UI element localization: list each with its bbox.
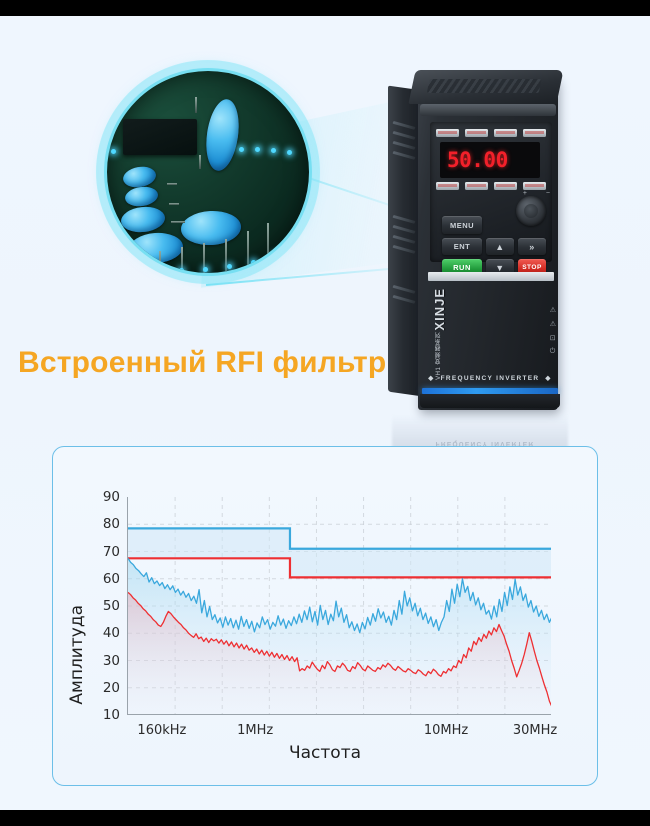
led-dot-icon <box>239 147 244 152</box>
capacitor-icon <box>122 164 158 189</box>
device-side-panel <box>388 86 422 397</box>
y-axis-tick: 70 <box>103 544 120 560</box>
up-button[interactable]: ▲ <box>486 238 514 255</box>
device-footer-label-bar: ◆ FREQUENCY INVERTER ◆ <box>424 370 556 386</box>
vent-slot <box>392 235 415 244</box>
status-led <box>436 182 459 190</box>
vent-slot <box>392 121 415 130</box>
vent-slot <box>392 295 415 304</box>
led-dot-icon <box>131 265 136 270</box>
x-axis-tick: 30MHz <box>513 723 557 738</box>
device-status-icon-group: ⚠ ⚠ ⊡ ⏻ <box>550 306 556 356</box>
y-axis-tick: 90 <box>103 489 120 505</box>
plot-inner <box>128 497 551 714</box>
led-dot-icon <box>271 148 276 153</box>
frequency-inverter-device: 50.00 + − MENU ENT ▲ <box>388 66 570 406</box>
capacitor-icon <box>180 209 242 246</box>
led-dot-icon <box>287 150 292 155</box>
led-display: 50.00 <box>440 142 540 178</box>
device-top-trim <box>420 104 556 116</box>
potentiometer-knob[interactable] <box>516 196 546 226</box>
y-axis-tick: 20 <box>103 680 120 696</box>
vent-slot <box>392 245 415 254</box>
top-vent-grille <box>427 79 542 93</box>
led-dot-icon <box>251 260 256 265</box>
page-root: 50.00 + − MENU ENT ▲ <box>0 0 650 826</box>
status-led-row-bottom <box>436 182 546 191</box>
device-top-cover <box>408 70 563 104</box>
arrow-up-icon: ▲ <box>495 242 504 252</box>
capacitor-icon <box>202 97 243 173</box>
emc-line-chart <box>128 497 551 714</box>
component-lead <box>159 251 161 276</box>
hero-section: 50.00 + − MENU ENT ▲ <box>0 16 650 426</box>
status-led <box>465 129 488 137</box>
y-axis-tick: 80 <box>103 516 120 532</box>
capacitor-icon <box>120 205 166 234</box>
pcb-chip-icon <box>123 119 197 155</box>
plot-area: 908070605040302010160kHz1MHz10MHz30MHz <box>127 497 551 715</box>
warning-icon: ⚠ <box>550 320 556 328</box>
warning-icon: ⚠ <box>550 306 556 314</box>
letterbox-bottom <box>0 810 650 826</box>
component-lead <box>167 183 177 185</box>
arrow-right-icon: » <box>529 242 535 252</box>
y-axis-tick: 10 <box>103 707 120 723</box>
led-dot-icon <box>155 267 160 272</box>
alarm-icon: ⊡ <box>550 334 556 342</box>
y-axis-tick: 60 <box>103 571 120 587</box>
diamond-icon: ◆ <box>428 374 434 382</box>
menu-button[interactable]: MENU <box>442 216 482 234</box>
x-axis-tick: 10MHz <box>424 723 468 738</box>
status-led <box>523 182 546 190</box>
led-dot-icon <box>111 149 116 154</box>
capacitor-icon <box>124 185 159 208</box>
component-lead <box>171 221 185 223</box>
y-axis-tick: 40 <box>103 625 120 641</box>
arrow-down-icon: ▼ <box>495 263 504 273</box>
knob-minus-label: − <box>546 190 550 197</box>
x-axis-label: Частота <box>53 743 597 763</box>
status-led-row-top <box>436 129 546 138</box>
led-dot-icon <box>255 147 260 152</box>
component-lead <box>137 259 139 276</box>
status-led <box>523 129 546 137</box>
power-icon: ⏻ <box>550 348 556 356</box>
status-led <box>494 129 517 137</box>
led-dot-icon <box>227 264 232 269</box>
led-dot-icon <box>273 253 278 258</box>
vent-slot <box>392 285 415 294</box>
y-axis-tick: 50 <box>103 598 120 614</box>
brand-logo: XINJE <box>432 288 447 331</box>
letterbox-top <box>0 0 650 16</box>
device-footer-label: FREQUENCY INVERTER <box>441 375 540 382</box>
vent-slot <box>392 215 415 224</box>
vent-slot <box>392 225 415 234</box>
diamond-icon: ◆ <box>545 374 551 382</box>
pcb-magnifier <box>104 68 312 276</box>
y-axis-tick: 30 <box>103 653 120 669</box>
x-axis-tick: 1MHz <box>237 723 273 738</box>
component-lead <box>199 155 201 169</box>
keypad-panel: 50.00 + − MENU ENT ▲ <box>430 122 552 262</box>
page-title: Встроенный RFI фильтр <box>18 346 386 380</box>
component-lead <box>267 223 269 271</box>
y-axis-label: Амплитуда <box>67 605 87 705</box>
led-dot-icon <box>179 268 184 273</box>
status-led <box>465 182 488 190</box>
status-led <box>436 129 459 137</box>
vent-slot <box>392 151 415 160</box>
x-axis-tick: 160kHz <box>137 723 186 738</box>
component-lead <box>169 203 179 205</box>
chart-panel: Амплитуда Частота 908070605040302010160k… <box>52 446 598 786</box>
lens-circle <box>104 68 312 276</box>
device-seam <box>428 272 554 281</box>
component-lead <box>247 231 249 275</box>
component-lead <box>195 97 197 113</box>
vent-slot <box>392 131 415 140</box>
led-dot-icon <box>203 267 208 272</box>
vent-slot <box>392 141 415 150</box>
shift-right-button[interactable]: » <box>518 238 546 255</box>
status-led <box>494 182 517 190</box>
enter-button[interactable]: ENT <box>442 238 482 255</box>
component-lead <box>225 239 227 276</box>
stage: 50.00 + − MENU ENT ▲ <box>0 16 650 810</box>
display-value: 50.00 <box>447 148 508 172</box>
